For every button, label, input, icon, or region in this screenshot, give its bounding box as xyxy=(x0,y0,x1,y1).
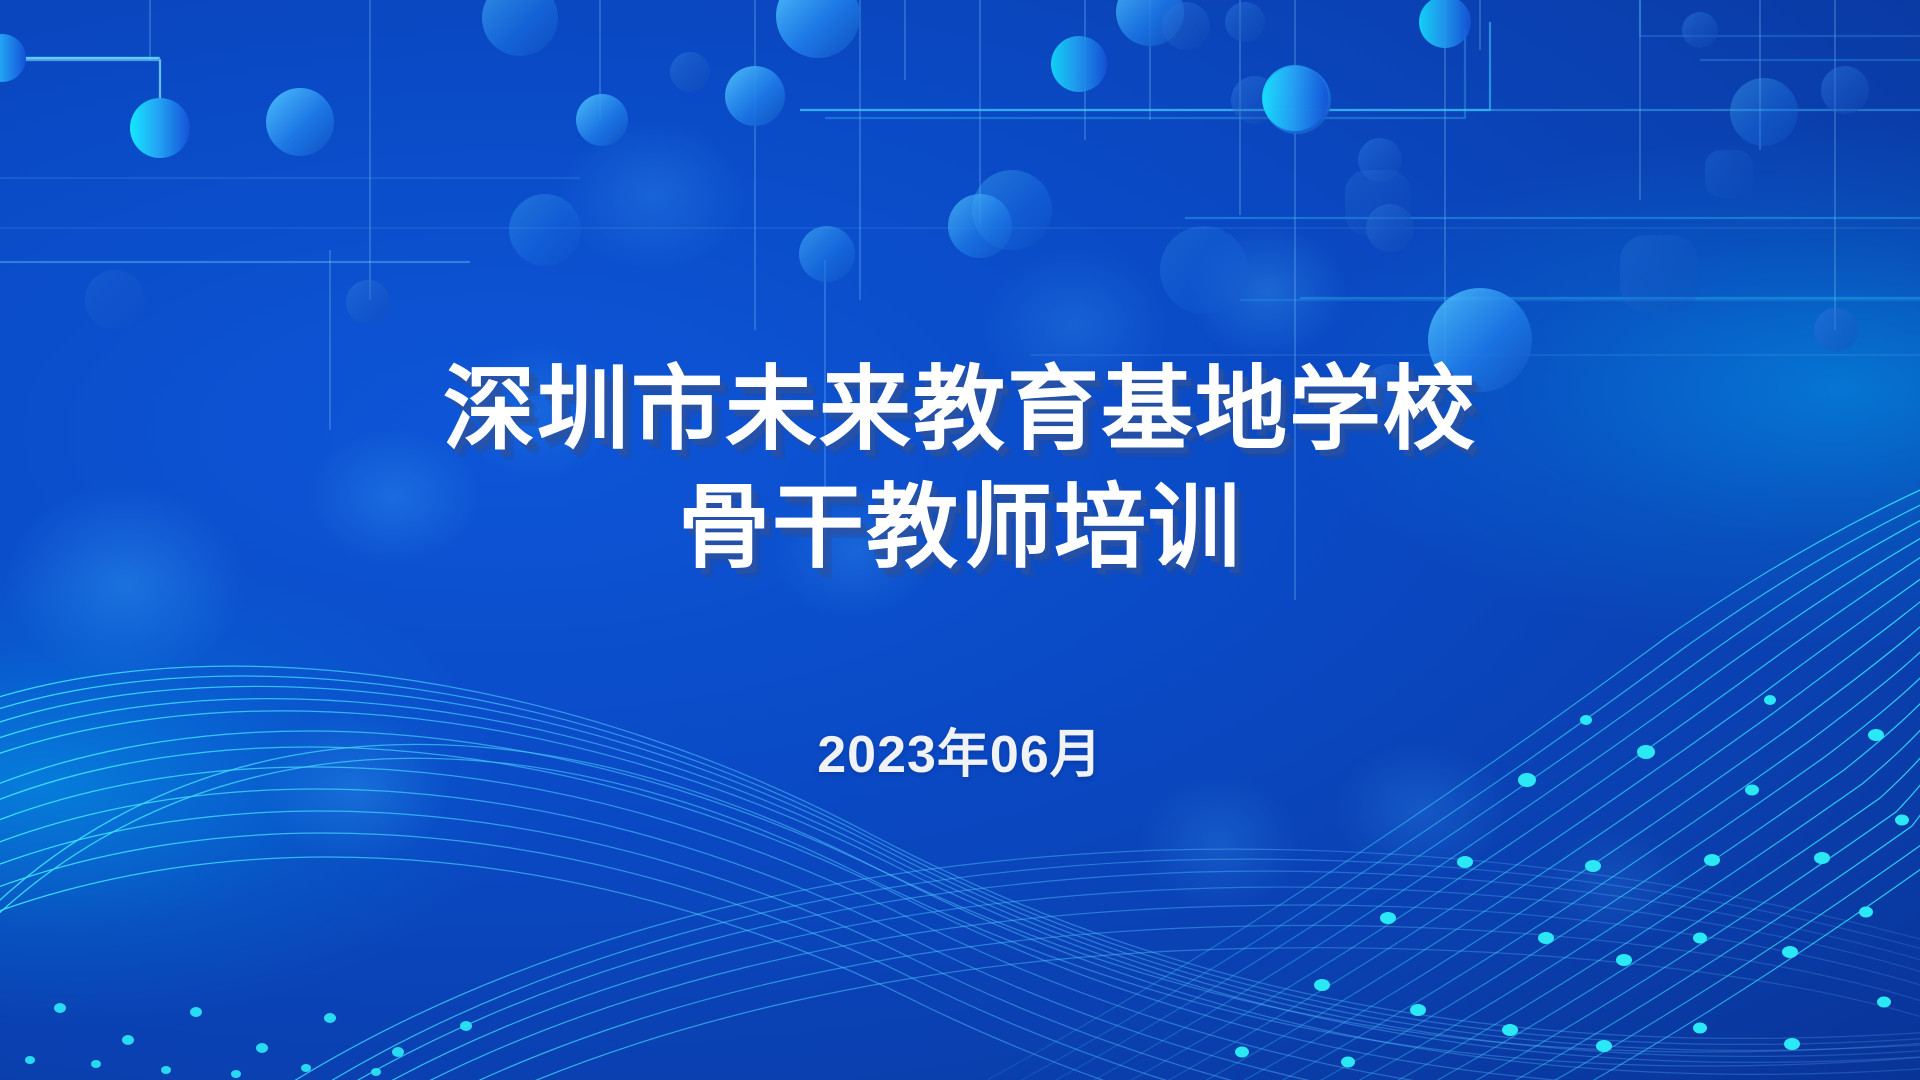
slide-content: 深圳市未来教育基地学校 骨干教师培训 2023年06月 xyxy=(0,0,1920,1080)
slide-title-line-2: 骨干教师培训 xyxy=(0,470,1920,588)
title-block: 深圳市未来教育基地学校 骨干教师培训 xyxy=(0,352,1920,588)
slide-title-line-1: 深圳市未来教育基地学校 xyxy=(0,352,1920,470)
title-slide: 深圳市未来教育基地学校 骨干教师培训 2023年06月 xyxy=(0,0,1920,1080)
slide-date: 2023年06月 xyxy=(0,712,1920,787)
